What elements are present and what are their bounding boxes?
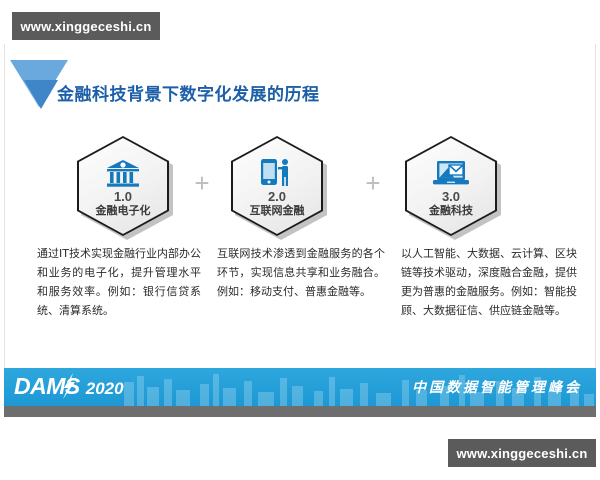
stage-version: 2.0 [268, 190, 286, 204]
dams-year-text: 2020 [86, 377, 124, 401]
stage-item-2[interactable]: 2.0 互联网金融 [231, 136, 327, 236]
stage-description-3: 以人工智能、大数据、云计算、区块链等技术驱动，深度融合金融，提供更为普惠的金融服… [401, 244, 577, 320]
watermark-bottom: www.xinggeceshi.cn [448, 439, 596, 467]
slide-header: 金融科技背景下数字化发展的历程 [5, 58, 595, 122]
stage-description-1: 通过IT技术实现金融行业内部办公和业务的电子化，提升管理水平和服务效率。例如：银… [37, 244, 201, 320]
stage-label: 互联网金融 [250, 204, 305, 218]
stage-label: 金融电子化 [96, 204, 151, 218]
laptop-email-icon [432, 155, 470, 189]
stage-version: 1.0 [114, 190, 132, 204]
footer-strip [4, 406, 596, 417]
description-row: 通过IT技术实现金融行业内部办公和业务的电子化，提升管理水平和服务效率。例如：银… [5, 244, 595, 374]
connector-plus-1: + [191, 172, 213, 194]
stage-label: 金融科技 [429, 204, 473, 218]
dams-logo: DAMS 2020 [14, 374, 124, 401]
lightning-bolt-icon [62, 373, 76, 399]
banner-subtitle: 中国数据智能管理峰会 [412, 377, 582, 397]
slide-canvas: 金融科技背景下数字化发展的历程 [4, 44, 596, 417]
stage-row: 1.0 金融电子化 + [5, 136, 595, 240]
footer-banner: DAMS 2020 中国数据智能管理峰会 [4, 368, 596, 406]
mobile-phone-person-icon [259, 155, 295, 189]
bank-building-icon [106, 155, 140, 189]
watermark-bottom-text: www.xinggeceshi.cn [457, 446, 588, 461]
connector-plus-2: + [362, 172, 384, 194]
stage-item-1[interactable]: 1.0 金融电子化 [77, 136, 173, 236]
logo-triangle-inner-icon [24, 80, 58, 109]
watermark-top-text: www.xinggeceshi.cn [21, 19, 152, 34]
stage-item-3[interactable]: 3.0 金融科技 [405, 136, 501, 236]
stage-description-2: 互联网技术渗透到金融服务的各个环节，实现信息共享和业务融合。例如：移动支付、普惠… [217, 244, 385, 301]
page-title: 金融科技背景下数字化发展的历程 [57, 80, 320, 105]
stage-version: 3.0 [442, 190, 460, 204]
watermark-top: www.xinggeceshi.cn [12, 12, 160, 40]
